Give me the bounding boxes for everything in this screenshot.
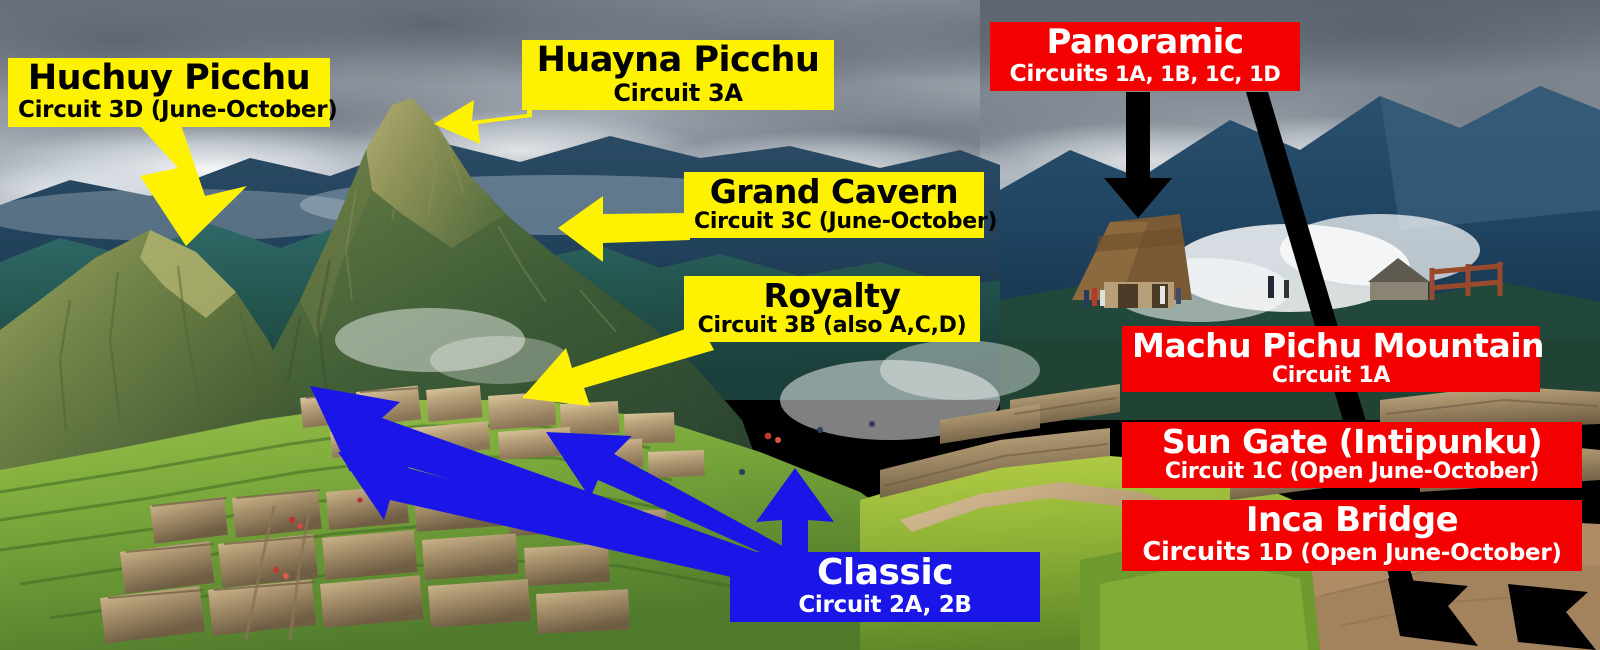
label-classic-subtitle: Circuit 2A, 2B	[740, 594, 1030, 617]
label-machu-pichu-mountain[interactable]: Machu Pichu Mountain Circuit 1A	[1122, 326, 1540, 392]
label-classic[interactable]: Classic Circuit 2A, 2B	[730, 552, 1040, 622]
label-classic-title: Classic	[740, 555, 1030, 591]
label-inca-bridge-subtitle-lead: Circuits	[1142, 537, 1250, 567]
label-huayna-picchu-title: Huayna Picchu	[532, 43, 824, 78]
label-inca-bridge[interactable]: Inca Bridge Circuits 1D (Open June-Octob…	[1122, 500, 1582, 571]
label-inca-bridge-subtitle: Circuits 1D (Open June-October)	[1132, 540, 1572, 566]
label-machu-pichu-mountain-title: Machu Pichu Mountain	[1132, 329, 1530, 362]
label-huchuy-picchu-title: Huchuy Picchu	[18, 61, 320, 96]
label-panoramic-subtitle-lead: Circuits	[1009, 59, 1108, 87]
label-panoramic-subtitle-rest: 1A, 1B, 1C, 1D	[1115, 62, 1281, 86]
label-royalty-subtitle: Circuit 3B (also A,C,D)	[694, 315, 970, 337]
label-huayna-picchu-subtitle: Circuit 3A	[532, 81, 824, 105]
label-grand-cavern-title: Grand Cavern	[694, 175, 974, 208]
label-panoramic-subtitle: Circuits 1A, 1B, 1C, 1D	[1000, 62, 1290, 86]
label-huayna-picchu[interactable]: Huayna Picchu Circuit 3A	[522, 40, 834, 110]
label-sun-gate-title: Sun Gate (Intipunku)	[1132, 425, 1572, 458]
label-huchuy-picchu-subtitle: Circuit 3D (June-October)	[18, 99, 320, 122]
annotated-photo-canvas: Huchuy Picchu Circuit 3D (June-October) …	[0, 0, 1600, 650]
label-huchuy-picchu[interactable]: Huchuy Picchu Circuit 3D (June-October)	[8, 58, 330, 127]
label-royalty[interactable]: Royalty Circuit 3B (also A,C,D)	[684, 276, 980, 342]
label-grand-cavern-subtitle: Circuit 3C (June-October)	[694, 211, 974, 233]
label-royalty-title: Royalty	[694, 279, 970, 312]
label-machu-pichu-mountain-subtitle: Circuit 1A	[1132, 365, 1530, 387]
label-grand-cavern[interactable]: Grand Cavern Circuit 3C (June-October)	[684, 172, 984, 238]
label-sun-gate-subtitle: Circuit 1C (Open June-October)	[1132, 461, 1572, 483]
label-panoramic-title: Panoramic	[1000, 25, 1290, 59]
label-panoramic[interactable]: Panoramic Circuits 1A, 1B, 1C, 1D	[990, 22, 1300, 91]
label-inca-bridge-title: Inca Bridge	[1132, 503, 1572, 537]
label-inca-bridge-subtitle-rest: 1D (Open June-October)	[1258, 540, 1561, 566]
label-sun-gate[interactable]: Sun Gate (Intipunku) Circuit 1C (Open Ju…	[1122, 422, 1582, 488]
